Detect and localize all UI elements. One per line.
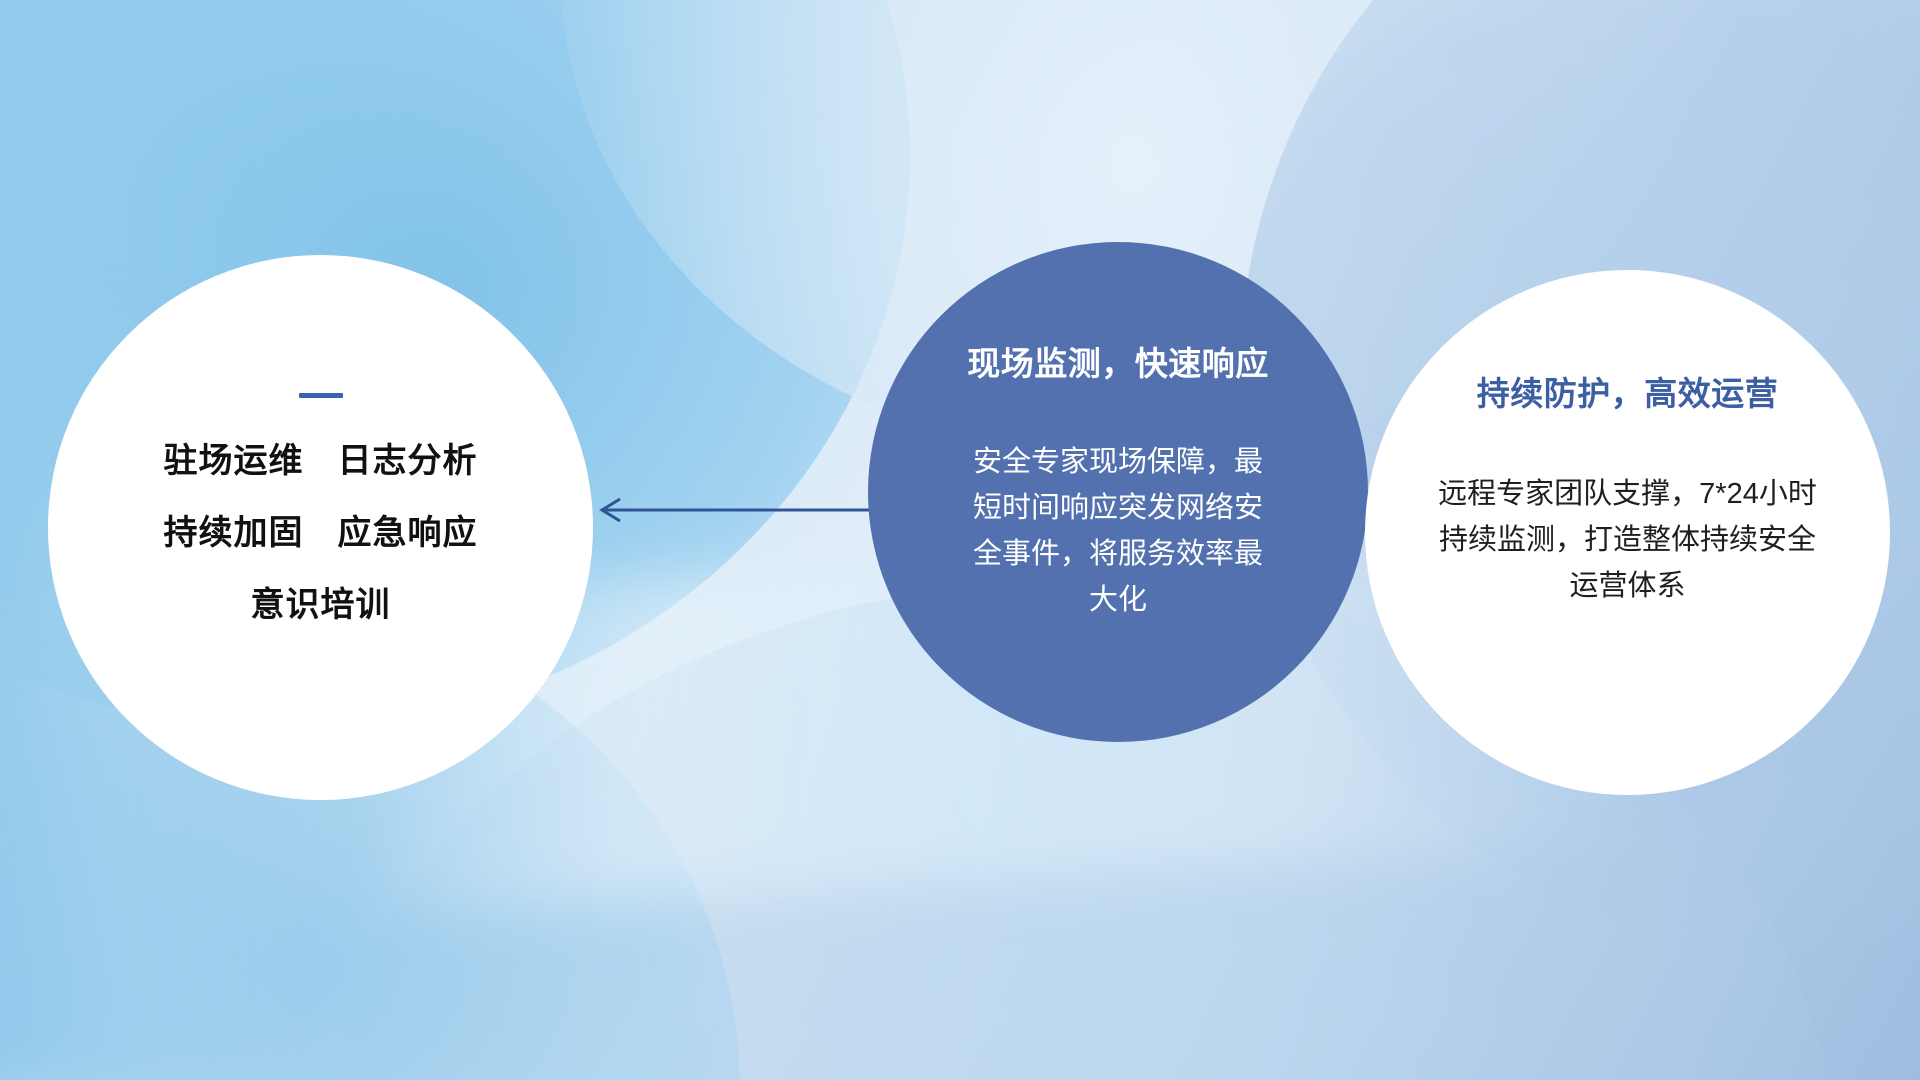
accent-dash-divider <box>299 393 343 398</box>
keyword-label: 应急响应 <box>338 514 478 552</box>
keyword-label: 驻场运维 <box>164 442 304 480</box>
card-body: 安全专家现场保障，最短时间响应突发网络安全事件，将服务效率最大化 <box>968 440 1268 623</box>
infographic-slide: 驻场运维日志分析 持续加固应急响应 意识培训 现场监测，快速响应 安全专家现场保… <box>0 0 1920 1080</box>
keyword-row: 驻场运维日志分析 <box>164 444 478 478</box>
card-title: 持续防护，高效运营 <box>1477 376 1779 412</box>
keyword-label: 意识培训 <box>251 586 391 624</box>
keyword-row: 意识培训 <box>251 588 391 622</box>
keyword-row: 持续加固应急响应 <box>164 516 478 550</box>
keyword-label: 日志分析 <box>338 442 478 480</box>
capabilities-circle[interactable]: 驻场运维日志分析 持续加固应急响应 意识培训 <box>48 255 593 800</box>
left-arrow-icon <box>590 490 900 530</box>
card-body: 远程专家团队支撑，7*24小时持续监测，打造整体持续安全运营体系 <box>1428 472 1828 609</box>
keyword-label: 持续加固 <box>164 514 304 552</box>
card-title: 现场监测，快速响应 <box>967 346 1269 382</box>
onsite-monitoring-circle[interactable]: 现场监测，快速响应 安全专家现场保障，最短时间响应突发网络安全事件，将服务效率最… <box>868 242 1368 742</box>
continuous-protection-circle[interactable]: 持续防护，高效运营 远程专家团队支撑，7*24小时持续监测，打造整体持续安全运营… <box>1365 270 1890 795</box>
